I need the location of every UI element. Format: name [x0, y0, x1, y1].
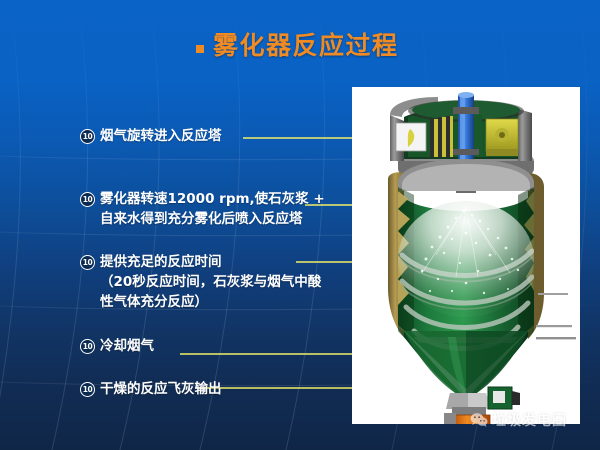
watermark-label: 垃圾发电圈 [492, 410, 567, 430]
list-item: 10 提供充足的反应时间 （20秒反应时间，石灰浆与烟气中酸 性气体充分反应） [80, 252, 332, 312]
circled-number-icon: 10 [80, 192, 95, 207]
list-item-label: 烟气旋转进入反应塔 [100, 126, 222, 146]
diagram-image-panel [352, 87, 580, 424]
page-title: 雾化器反应过程 [196, 33, 399, 58]
list-item: 10 雾化器转速12000 rpm,使石灰浆 + 自来水得到充分雾化后喷入反应塔 [80, 189, 345, 229]
circled-number-icon: 10 [80, 255, 95, 270]
circled-number-icon: 10 [80, 129, 95, 144]
list-item: 10 烟气旋转进入反应塔 [80, 126, 222, 146]
circled-number-icon: 10 [80, 382, 95, 397]
watermark: 垃圾发电圈 [470, 410, 567, 430]
wechat-icon [470, 412, 488, 428]
list-item: 10 干燥的反应飞灰输出 [80, 379, 222, 399]
list-item: 10 冷却烟气 [80, 336, 154, 356]
list-item-label: 冷却烟气 [100, 336, 154, 356]
circled-number-icon: 10 [80, 339, 95, 354]
title-square-bullet-icon [196, 45, 204, 53]
spray-dryer-absorber-cutaway-diagram [352, 87, 580, 424]
list-item-label: 雾化器转速12000 rpm,使石灰浆 + 自来水得到充分雾化后喷入反应塔 [100, 189, 325, 229]
title-label: 雾化器反应过程 [213, 33, 399, 58]
list-item-label: 提供充足的反应时间 （20秒反应时间，石灰浆与烟气中酸 性气体充分反应） [100, 252, 321, 312]
slide-canvas: 雾化器反应过程 10 烟气旋转进入反应塔 10 雾化器转速12000 rpm,使… [0, 0, 600, 450]
list-item-label: 干燥的反应飞灰输出 [100, 379, 222, 399]
